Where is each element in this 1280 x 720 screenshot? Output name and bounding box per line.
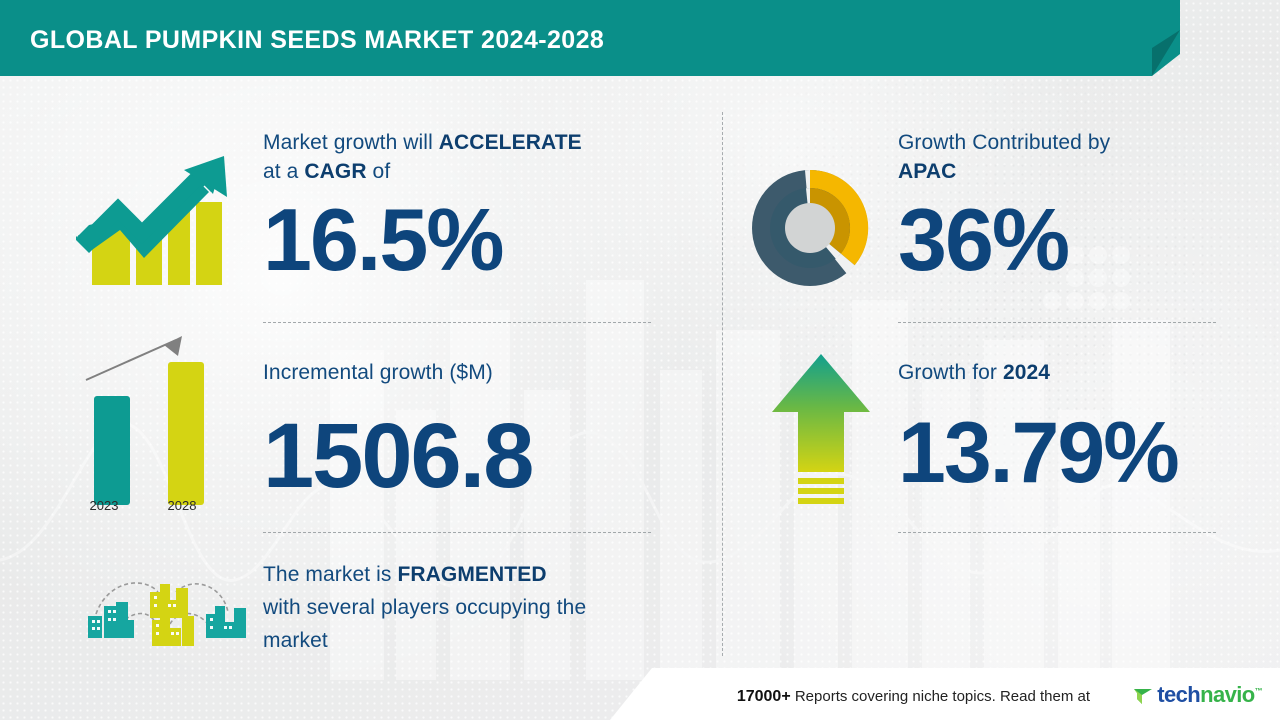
footer-tagline: Reports covering niche topics. Read them… [795,688,1090,705]
growth-2024-line1-plain: Growth for [898,361,1003,384]
column-divider [722,112,723,656]
donut-chart-icon [746,164,874,292]
incremental-growth-label: Incremental growth ($M) [263,358,663,387]
report-count: 17000+ [737,688,791,705]
fragmentation-keyword: FRAGMENTED [397,563,546,586]
growth-arrow-bar-chart-icon [72,140,237,285]
city-buildings-network-icon [72,562,252,652]
fragmentation-line1-plain: The market is [263,563,397,586]
logo-trademark: ™ [1255,687,1262,696]
apac-lead-line1: Growth Contributed by [898,131,1110,154]
paper-plane-icon [1132,684,1154,706]
two-bar-comparison-icon [78,330,228,505]
technavio-logo[interactable]: technavio™ [1132,682,1262,708]
left-divider-2 [263,532,651,533]
bar-label-2023: 2023 [76,498,132,513]
bar-label-2028: 2028 [154,498,210,513]
logo-part-tech: tech [1157,682,1200,707]
upward-arrow-gradient-icon [766,350,876,510]
page-title: GLOBAL PUMPKIN SEEDS MARKET 2024-2028 [30,26,604,55]
right-divider-1 [898,322,1216,323]
logo-part-navio: navio [1200,682,1254,707]
technavio-wordmark: technavio™ [1157,682,1262,708]
footer-text: 17000+ Reports covering niche topics. Re… [737,688,1090,706]
cagr-lead-cagr: CAGR [304,160,366,183]
fragmentation-line2: with several players occupying the [263,596,586,619]
header-banner: GLOBAL PUMPKIN SEEDS MARKET 2024-2028 [0,0,1152,76]
growth-2024-label: Growth for 2024 [898,358,1228,387]
apac-region-label: APAC [898,160,956,183]
cagr-lead-line2-plain: at a [263,160,304,183]
footer: 17000+ Reports covering niche topics. Re… [0,668,1280,720]
cagr-lead-line2-tail: of [367,160,391,183]
apac-value: 36% [898,196,1068,284]
fragmentation-text: The market is FRAGMENTED with several pl… [263,558,683,657]
growth-2024-value: 13.79% [898,410,1178,496]
fragmentation-line3: market [263,629,328,652]
growth-2024-year: 2024 [1003,361,1050,384]
apac-lead-text: Growth Contributed by APAC [898,128,1228,186]
cagr-value: 16.5% [263,196,503,284]
left-divider-1 [263,322,651,323]
incremental-growth-value: 1506.8 [263,410,532,502]
cagr-lead-accelerate: ACCELERATE [439,131,582,154]
cagr-lead-text: Market growth will ACCELERATE at a CAGR … [263,128,663,186]
cagr-lead-line1-plain: Market growth will [263,131,439,154]
right-divider-2 [898,532,1216,533]
infographic-canvas: GLOBAL PUMPKIN SEEDS MARKET 2024-2028 [0,0,1280,720]
header-fold-corner [1090,0,1210,110]
